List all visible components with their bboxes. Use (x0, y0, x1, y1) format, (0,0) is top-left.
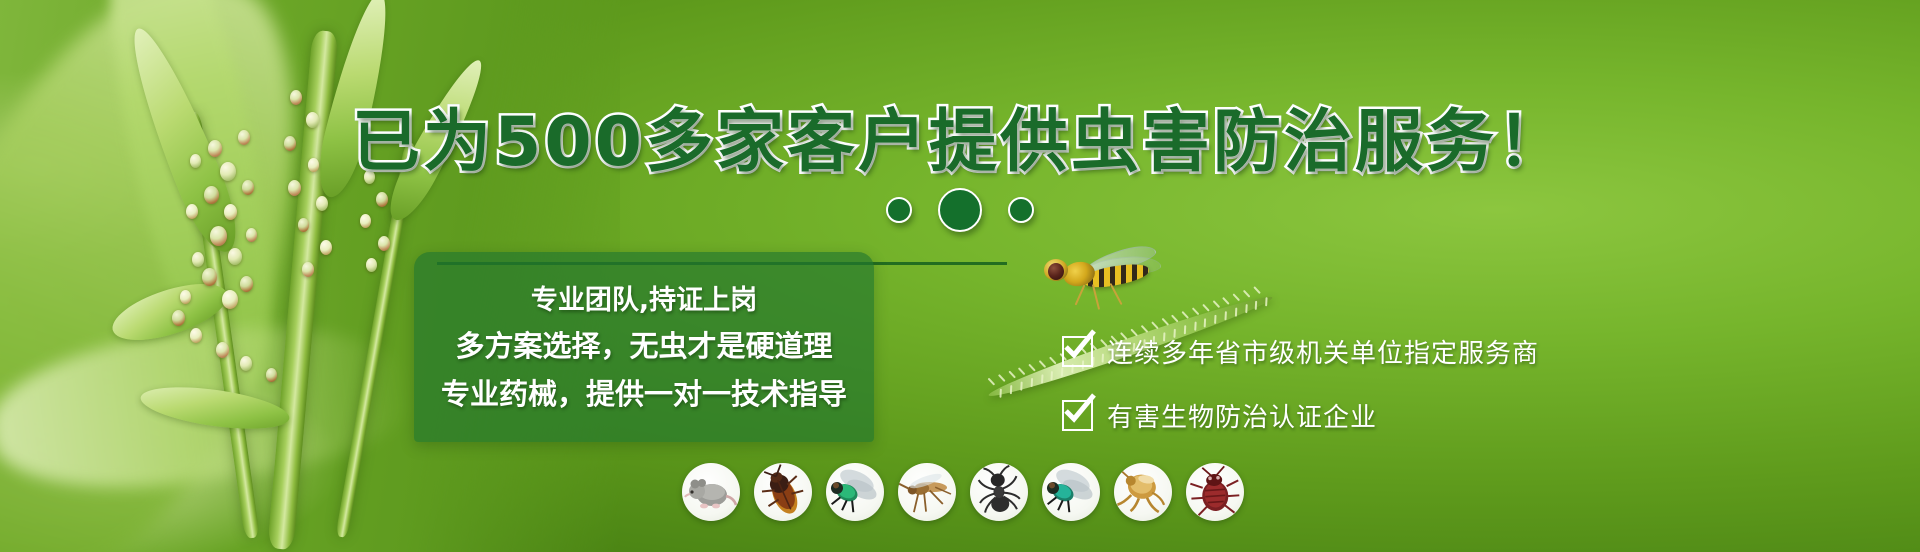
plant-bud (180, 290, 191, 304)
checklist-item: 有害生物防治认证企业 (1062, 397, 1539, 434)
plant-bud (378, 236, 390, 251)
plant-leaf-5 (138, 380, 292, 437)
checkbox-checked-icon (1062, 400, 1093, 431)
twig-hair (1030, 378, 1032, 387)
plant-leaf-4 (106, 273, 234, 352)
plant-bud (216, 342, 229, 358)
dot-small-left (886, 197, 912, 223)
checklist-item-label: 有害生物防治认证企业 (1107, 397, 1377, 434)
twig-hair (1245, 304, 1247, 313)
cockroach-icon (754, 463, 812, 521)
dot-small-right (1008, 197, 1034, 223)
plant-bud (240, 356, 252, 371)
plant-bud (366, 258, 377, 272)
ant-icon (970, 463, 1028, 521)
twig-hair (1235, 308, 1237, 317)
plant-bud (192, 252, 204, 267)
mosquito-icon (898, 463, 956, 521)
pest-control-banner: 已为500多家客户提供虫害防治服务！ 专业团队,持证上岗 多方案选择，无虫才是硬… (0, 0, 1920, 552)
slogan-line-2: 多方案选择，无虫才是硬道理 (455, 323, 832, 365)
housefly-icon (826, 463, 884, 521)
bedbug-icon (1186, 463, 1244, 521)
plant-bud (190, 328, 202, 343)
twig-hair (1171, 314, 1179, 322)
checkbox-checked-icon (1062, 336, 1093, 367)
checklist-item: 连续多年省市级机关单位指定服务商 (1062, 333, 1539, 370)
plant-bud (202, 268, 217, 286)
blowfly-icon (1042, 463, 1100, 521)
banner-headline: 已为500多家客户提供虫害防治服务！ (0, 86, 1920, 185)
decorative-dots (0, 188, 1920, 232)
twig-hair (1253, 286, 1261, 294)
plant-bud (172, 310, 185, 326)
plant-bud (222, 290, 238, 309)
hoverfly-leg-1 (1075, 285, 1086, 306)
dot-large-center (938, 188, 982, 232)
credentials-checklist: 连续多年省市级机关单位指定服务商 有害生物防治认证企业 (1062, 333, 1539, 434)
hoverfly-icon (1035, 248, 1165, 308)
twig-hair (1182, 311, 1190, 319)
slogan-panel: 专业团队,持证上岗 多方案选择，无虫才是硬道理 专业药械，提供一对一技术指导 (414, 252, 874, 442)
hoverfly-leg-2 (1092, 284, 1100, 310)
twig-hair (1028, 364, 1036, 372)
pest-icon-row (682, 463, 1244, 521)
twig-hair (1039, 360, 1047, 368)
slogan-line-1: 专业团队,持证上岗 (531, 278, 757, 317)
plant-bud (266, 368, 277, 382)
twig-hair (1222, 297, 1230, 305)
checklist-item-label: 连续多年省市级机关单位指定服务商 (1107, 333, 1539, 370)
plant-bud (240, 276, 253, 292)
twig-hair (1041, 374, 1043, 383)
twig-hair (1018, 367, 1026, 375)
plant-bud (302, 262, 314, 277)
twig-hair (988, 378, 996, 386)
twig-hair (1049, 357, 1057, 365)
banner-headline-text: 已为500多家客户提供虫害防治服务！ (352, 103, 1568, 182)
twig-hair (998, 374, 1006, 382)
slogan-line-3: 专业药械，提供一对一技术指导 (441, 371, 847, 413)
twig-hair (1233, 293, 1241, 301)
twig-hair (1194, 322, 1196, 331)
hoverfly-head (1044, 259, 1068, 281)
twig-hair (1192, 307, 1200, 315)
twig-hair (1008, 371, 1016, 379)
flea-icon (1114, 463, 1172, 521)
twig-hair (1243, 290, 1251, 298)
rat-icon (682, 463, 740, 521)
twig-hair (1202, 304, 1210, 312)
hoverfly-eye (1048, 263, 1064, 280)
plant-bud (320, 240, 332, 255)
twig-hair (1212, 300, 1220, 308)
hoverfly-leg-3 (1109, 283, 1122, 305)
plant-bud (228, 248, 242, 265)
